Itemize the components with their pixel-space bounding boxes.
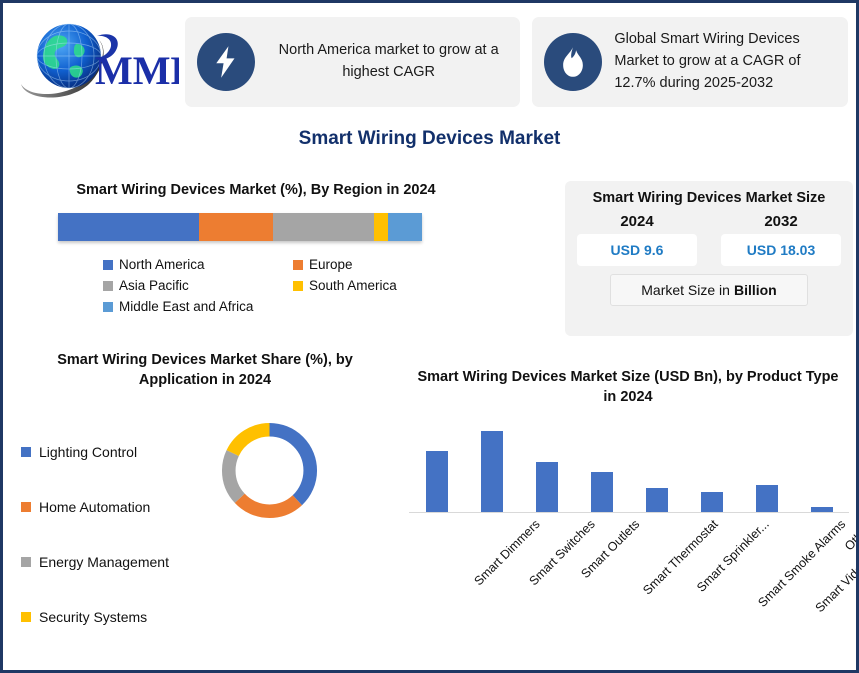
bar-smart-video-doorbells <box>756 485 778 513</box>
logo-wordmark: MMR <box>95 48 179 93</box>
legend-swatch-icon <box>21 557 31 567</box>
legend-item-asia-pacific: Asia Pacific <box>103 276 293 296</box>
product-type-axis-labels: Smart Dimmers Smart Switches Smart Outle… <box>409 513 849 623</box>
market-size-year-2032: 2032 <box>709 213 853 230</box>
market-size-years: 2024 2032 <box>565 213 853 230</box>
legend-swatch-icon <box>103 260 113 270</box>
product-type-chart: Smart Wiring Devices Market Size (USD Bn… <box>399 368 857 623</box>
bar-smart-smoke-alarms <box>701 492 723 513</box>
market-size-value-2032: USD 18.03 <box>721 234 841 266</box>
bar-column <box>794 421 849 513</box>
flame-icon <box>544 33 602 91</box>
application-chart-body: Lighting Control Home Automation Energy … <box>21 390 401 620</box>
legend-swatch-icon <box>293 281 303 291</box>
bar-column <box>574 421 629 513</box>
application-legend: Lighting Control Home Automation Energy … <box>21 424 217 644</box>
legend-item-security-systems: Security Systems <box>21 589 217 644</box>
legend-swatch-icon <box>103 302 113 312</box>
bar-smart-dimmers <box>426 451 448 513</box>
page-title: Smart Wiring Devices Market <box>3 128 856 150</box>
legend-label: Middle East and Africa <box>119 297 253 317</box>
legend-label: Europe <box>309 255 353 275</box>
header-card-text: North America market to grow at a highes… <box>267 40 510 84</box>
header: MMR North America market to grow at a hi… <box>3 3 856 121</box>
legend-item-south-america: South America <box>293 276 483 296</box>
infographic-page: MMR North America market to grow at a hi… <box>0 0 859 673</box>
market-size-unit-prefix: Market Size in <box>641 282 730 298</box>
legend-item-north-america: North America <box>103 255 293 275</box>
legend-item-middle-east-and-africa: Middle East and Africa <box>103 297 293 317</box>
header-card-north-america: North America market to grow at a highes… <box>185 17 520 107</box>
bar-smart-switches <box>481 431 503 513</box>
region-segment-south-america <box>374 213 389 241</box>
market-size-title: Smart Wiring Devices Market Size <box>565 189 853 209</box>
market-size-year-2024: 2024 <box>565 213 709 230</box>
legend-item-europe: Europe <box>293 255 483 275</box>
region-segment-asia-pacific <box>273 213 374 241</box>
bar-column <box>629 421 684 513</box>
bar-column <box>684 421 739 513</box>
legend-swatch-icon <box>21 502 31 512</box>
application-chart: Smart Wiring Devices Market Share (%), b… <box>21 351 401 620</box>
header-card-global-cagr: Global Smart Wiring Devices Market to gr… <box>532 17 848 107</box>
legend-label: South America <box>309 276 397 296</box>
region-segment-middle-east-and-africa <box>388 213 422 241</box>
region-segment-north-america <box>58 213 199 241</box>
market-size-unit-value: Billion <box>734 282 777 298</box>
region-chart-title: Smart Wiring Devices Market (%), By Regi… <box>31 181 481 201</box>
bar-smart-outlets <box>536 462 558 513</box>
application-chart-title: Smart Wiring Devices Market Share (%), b… <box>35 351 375 390</box>
legend-label: Home Automation <box>39 499 150 515</box>
legend-item-lighting-control: Lighting Control <box>21 424 217 479</box>
mmr-logo: MMR <box>11 14 179 110</box>
market-size-values: USD 9.6 USD 18.03 <box>565 234 853 266</box>
bar-smart-thermostat <box>591 472 613 513</box>
legend-label: Security Systems <box>39 609 147 625</box>
application-donut <box>221 422 318 519</box>
bar-column <box>519 421 574 513</box>
product-type-bars <box>409 421 849 513</box>
legend-label: Lighting Control <box>39 444 137 460</box>
header-card-text: Global Smart Wiring Devices Market to gr… <box>614 29 838 94</box>
legend-item-home-automation: Home Automation <box>21 479 217 534</box>
legend-swatch-icon <box>293 260 303 270</box>
product-type-chart-title: Smart Wiring Devices Market Size (USD Bn… <box>413 368 843 407</box>
lightning-bolt-icon <box>197 33 255 91</box>
legend-item-energy-management: Energy Management <box>21 534 217 589</box>
bar-column <box>464 421 519 513</box>
region-chart: Smart Wiring Devices Market (%), By Regi… <box>21 181 521 318</box>
region-legend: North America Europe Asia Pacific South … <box>103 255 483 319</box>
bar-column <box>409 421 464 513</box>
region-stacked-bar <box>58 213 422 241</box>
legend-swatch-icon <box>103 281 113 291</box>
legend-label: North America <box>119 255 205 275</box>
legend-label: Asia Pacific <box>119 276 189 296</box>
market-size-value-2024: USD 9.6 <box>577 234 697 266</box>
globe-logo-icon: MMR <box>11 14 179 110</box>
bar-column <box>739 421 794 513</box>
legend-swatch-icon <box>21 447 31 457</box>
legend-swatch-icon <box>21 612 31 622</box>
market-size-panel: Smart Wiring Devices Market Size 2024 20… <box>565 181 853 336</box>
legend-label: Energy Management <box>39 554 169 570</box>
region-segment-europe <box>199 213 273 241</box>
bar-smart-sprinkler <box>646 488 668 513</box>
market-size-unit-note: Market Size in Billion <box>610 274 808 306</box>
